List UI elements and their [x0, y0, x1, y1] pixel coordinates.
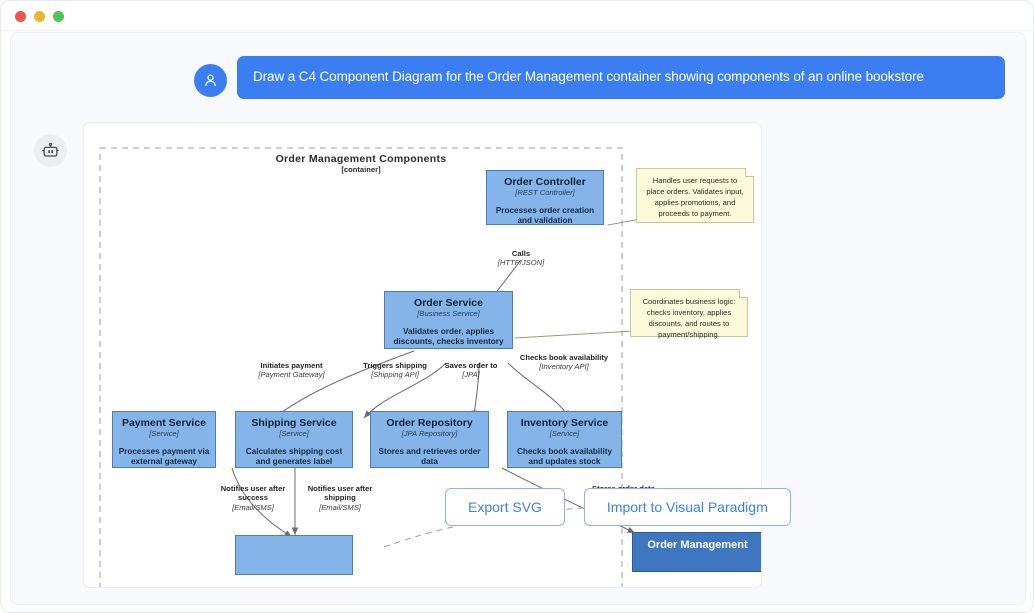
- node-inventory-service[interactable]: Inventory Service [Service] Checks book …: [507, 411, 622, 468]
- node-notification-partial[interactable]: [235, 535, 353, 575]
- node-title: Shipping Service: [236, 417, 352, 429]
- note-text: Coordinates business logic: checks inven…: [643, 297, 736, 339]
- minimize-window-icon[interactable]: [34, 11, 45, 22]
- node-type: [JPA Repository]: [371, 429, 488, 439]
- node-shipping-service[interactable]: Shipping Service [Service] Calculates sh…: [235, 411, 353, 468]
- node-title: Order Controller: [487, 176, 603, 188]
- node-title: Order Service: [385, 297, 512, 309]
- node-desc: Processes payment via external gateway: [113, 447, 215, 468]
- edge-label-checks-availability: Checks book availability [Inventory API]: [518, 353, 610, 372]
- node-desc: Validates order, applies discounts, chec…: [385, 327, 512, 348]
- edge-label-text: Notifies user after success: [221, 484, 286, 502]
- diagram-action-buttons: Export SVG Import to Visual Paradigm: [445, 488, 791, 526]
- node-title: Order Management: [633, 539, 762, 551]
- window-titlebar: [1, 1, 1034, 31]
- edge-label-calls: Calls [HTTP/JSON]: [476, 249, 566, 268]
- node-desc: Checks book availability and updates sto…: [508, 447, 621, 468]
- boundary-title-main: Order Management Components: [100, 153, 622, 165]
- node-title: Order Repository: [371, 417, 488, 429]
- user-message-row: Draw a C4 Component Diagram for the Orde…: [194, 56, 1005, 99]
- edge-label-text: Notifies user after shipping: [308, 484, 373, 502]
- edge-label-tech: [Email/SMS]: [207, 503, 299, 512]
- app-window: Draw a C4 Component Diagram for the Orde…: [0, 0, 1034, 613]
- user-message-bubble: Draw a C4 Component Diagram for the Orde…: [237, 56, 1005, 99]
- maximize-window-icon[interactable]: [53, 11, 64, 22]
- node-desc: Stores and retrieves order data: [371, 447, 488, 468]
- edge-label-tech: [Payment Gateway]: [239, 370, 344, 379]
- node-desc: Calculates shipping cost and generates l…: [236, 447, 352, 468]
- node-title: Inventory Service: [508, 417, 621, 429]
- edge-label-text: Checks book availability: [520, 353, 608, 362]
- node-title: Payment Service: [113, 417, 215, 429]
- edge-label-text: Saves order to: [445, 361, 498, 370]
- note-text: Handles user requests to place orders. V…: [646, 176, 743, 218]
- import-visual-paradigm-button[interactable]: Import to Visual Paradigm: [584, 488, 791, 526]
- node-type: [Service]: [113, 429, 215, 439]
- export-svg-button[interactable]: Export SVG: [445, 488, 565, 526]
- node-order-repository[interactable]: Order Repository [JPA Repository] Stores…: [370, 411, 489, 468]
- edge-label-tech: [Inventory API]: [518, 362, 610, 371]
- edge-label-initiates-payment: Initiates payment [Payment Gateway]: [239, 361, 344, 380]
- node-type: [Service]: [236, 429, 352, 439]
- node-order-service[interactable]: Order Service [Business Service] Validat…: [384, 291, 513, 349]
- edge-label-tech: [JPA]: [429, 370, 513, 379]
- edge-label-notifies-shipping: Notifies user after shipping [Email/SMS]: [294, 484, 386, 512]
- edge-label-tech: [HTTP/JSON]: [476, 258, 566, 267]
- edge-label-tech: [Shipping API]: [349, 370, 441, 379]
- node-desc: Processes order creation and validation: [487, 206, 603, 227]
- bot-avatar: [34, 134, 67, 167]
- node-type: [Service]: [508, 429, 621, 439]
- chat-pane: Draw a C4 Component Diagram for the Orde…: [10, 32, 1026, 605]
- user-avatar: [194, 64, 227, 97]
- bot-message-row: [34, 126, 67, 167]
- node-order-controller[interactable]: Order Controller [REST Controller] Proce…: [486, 170, 604, 225]
- edge-label-saves-order: Saves order to [JPA]: [429, 361, 513, 380]
- note-order-service: Coordinates business logic: checks inven…: [630, 289, 748, 337]
- edge-label-text: Calls: [512, 249, 530, 258]
- note-order-controller: Handles user requests to place orders. V…: [636, 168, 754, 223]
- note-fold-corner: [745, 168, 754, 177]
- edge-label-notifies-success: Notifies user after success [Email/SMS]: [207, 484, 299, 512]
- edge-label-tech: [Email/SMS]: [294, 503, 386, 512]
- robot-icon: [41, 141, 60, 160]
- close-window-icon[interactable]: [15, 11, 26, 22]
- node-order-management-db[interactable]: Order Management: [632, 532, 762, 572]
- note-fold-corner: [739, 289, 748, 298]
- edge-label-text: Initiates payment: [260, 361, 322, 370]
- user-icon: [202, 72, 219, 89]
- node-type: [REST Controller]: [487, 188, 603, 198]
- node-payment-service[interactable]: Payment Service [Service] Processes paym…: [112, 411, 216, 468]
- window-traffic-lights: [15, 11, 64, 22]
- edge-label-text: Triggers shipping: [363, 361, 427, 370]
- node-type: [Business Service]: [385, 309, 512, 319]
- edge-label-triggers-shipping: Triggers shipping [Shipping API]: [349, 361, 441, 380]
